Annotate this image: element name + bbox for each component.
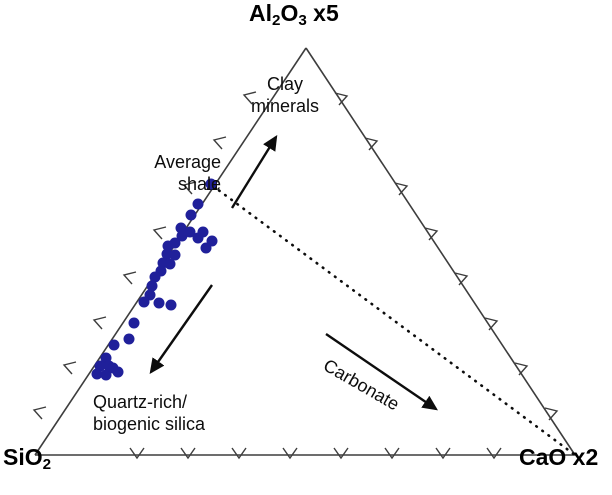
data-point [165, 259, 176, 270]
quartz-rich-label: Quartz-rich/ biogenic silica [93, 392, 205, 436]
data-point [166, 300, 177, 311]
bottom-axis-ticks [130, 448, 501, 458]
quartz-rich-label-line2: biogenic silica [93, 414, 205, 436]
data-point [198, 227, 209, 238]
average-shale-reference-line [213, 186, 575, 455]
data-point [154, 298, 165, 309]
average-shale-label: Average shale [135, 152, 221, 196]
quartz-rich-label-line1: Quartz-rich/ [93, 392, 205, 414]
data-point [109, 340, 120, 351]
data-point [124, 334, 135, 345]
data-point [201, 243, 212, 254]
clay-minerals-label: Clay minerals [251, 74, 319, 118]
data-point [129, 318, 140, 329]
clay-minerals-label-line2: minerals [251, 96, 319, 118]
data-point [186, 210, 197, 221]
left-vertex-label: SiO2 [3, 445, 51, 473]
right-vertex-label: CaO x2 [519, 445, 598, 469]
average-shale-label-line1: Average [135, 152, 221, 174]
data-point [113, 367, 124, 378]
data-point [139, 297, 150, 308]
left-axis-ticks [34, 92, 256, 419]
scatter-data-points [92, 179, 218, 381]
clay-minerals-label-line1: Clay [251, 74, 319, 96]
average-shale-label-line2: shale [135, 174, 221, 196]
data-point [193, 199, 204, 210]
clay-trend-arrow [232, 137, 276, 208]
apex-vertex-label: Al2O3 x5 [249, 1, 339, 29]
ternary-diagram-figure: Al2O3 x5 SiO2 CaO x2 Clay minerals Avera… [0, 0, 612, 495]
